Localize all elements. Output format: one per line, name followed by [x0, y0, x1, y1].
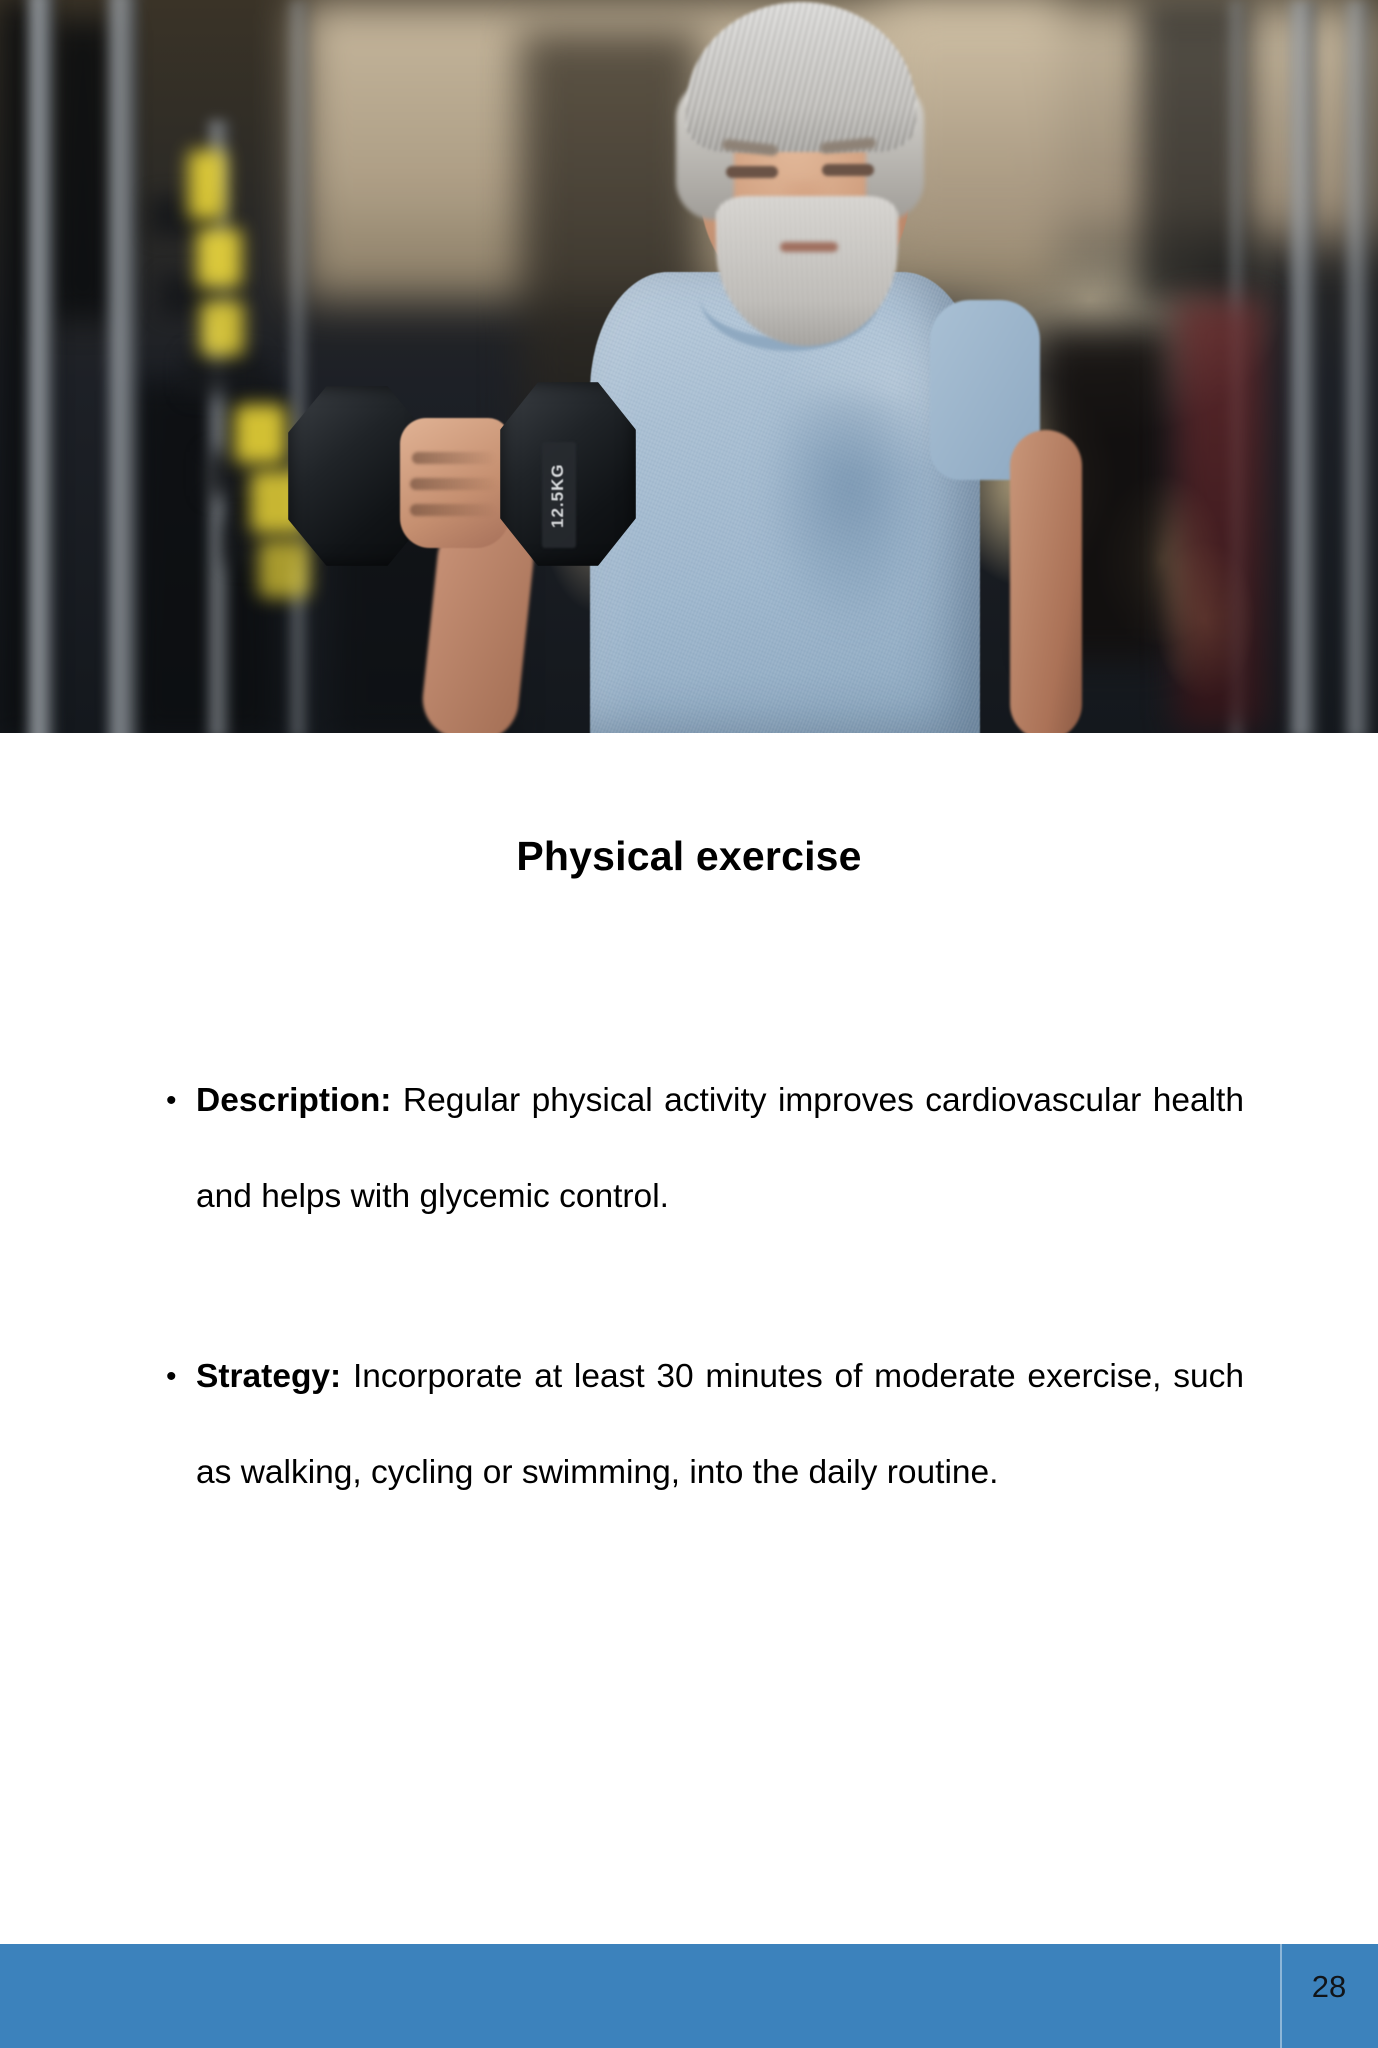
list-item-text: Strategy: Incorporate at least 30 minute… [196, 1329, 1244, 1521]
finger [412, 452, 496, 464]
page-number: 28 [1280, 1944, 1378, 2048]
right-arm [1010, 430, 1082, 733]
hero-photo: 12.5KG [0, 0, 1378, 733]
left-forearm [419, 516, 537, 733]
list-item: • Strategy: Incorporate at least 30 minu… [152, 1329, 1244, 1521]
list-item-body: Incorporate at least 30 minutes of moder… [196, 1358, 1244, 1491]
bullet-marker-icon: • [152, 1053, 196, 1149]
finger [410, 478, 498, 490]
gray-hair [686, 2, 916, 152]
page-title: Physical exercise [0, 833, 1378, 880]
eye [726, 166, 778, 178]
eye [822, 164, 874, 176]
slide-content-area: Physical exercise • Description: Regular… [0, 733, 1378, 1944]
dumbbell-weight-label: 12.5KG [548, 452, 570, 540]
list-item-label: Description: [196, 1082, 391, 1119]
footer-bar: 28 [0, 1944, 1378, 2048]
list-item-label: Strategy: [196, 1358, 341, 1395]
bullet-list: • Description: Regular physical activity… [152, 1053, 1244, 1521]
person-exercising [0, 0, 1378, 733]
list-item: • Description: Regular physical activity… [152, 1053, 1244, 1245]
finger [410, 504, 496, 516]
tshirt-sweat-patch [760, 392, 940, 632]
bullet-marker-icon: • [152, 1329, 196, 1425]
list-item-text: Description: Regular physical activity i… [196, 1053, 1244, 1245]
mouth [780, 242, 838, 252]
